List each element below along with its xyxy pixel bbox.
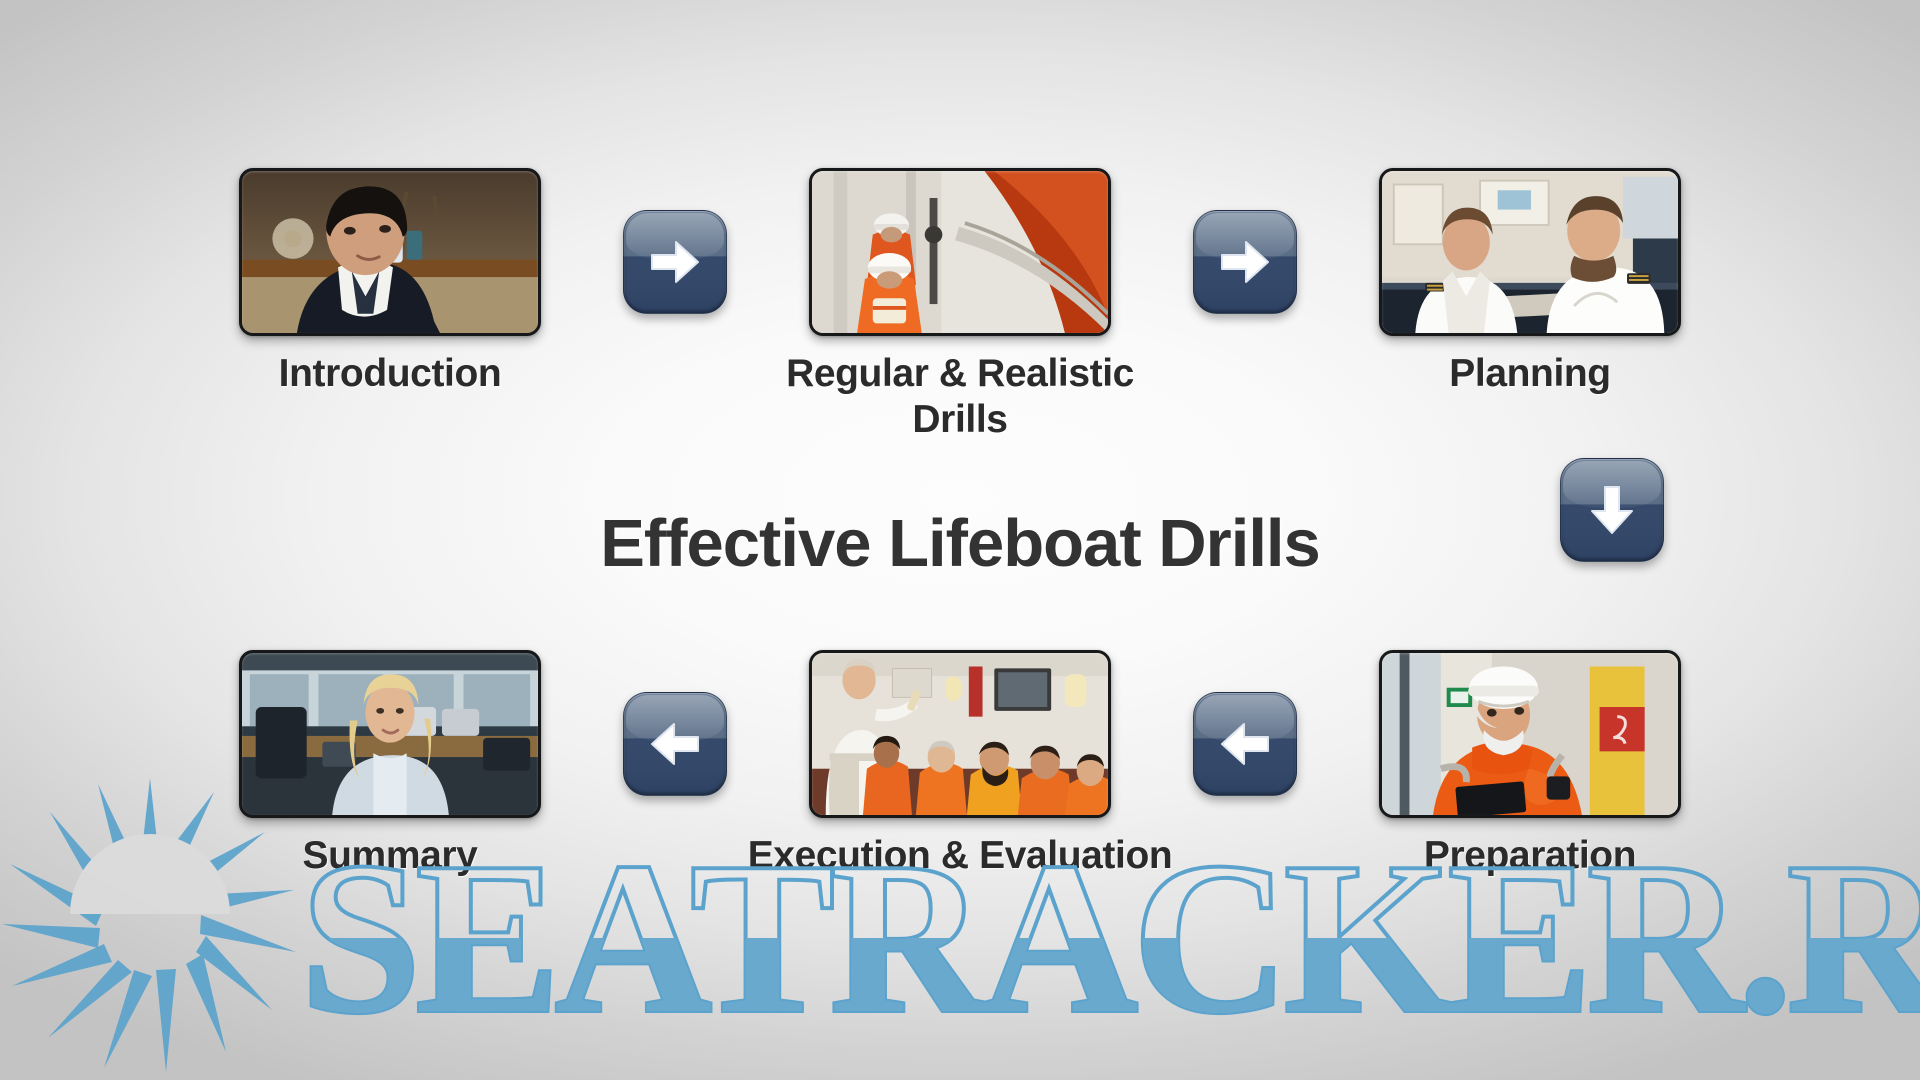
slide-canvas: Introduction xyxy=(0,0,1920,1080)
node-label-regular-realistic-drills: Regular & Realistic Drills xyxy=(786,351,1134,443)
node-label-summary: Summary xyxy=(303,833,478,879)
summary-thumbnail-art xyxy=(242,653,538,815)
page-title: Effective Lifeboat Drills xyxy=(600,506,1320,581)
arrow-down-icon[interactable] xyxy=(1560,458,1664,562)
node-planning[interactable]: Planning xyxy=(1315,168,1745,397)
summary-thumbnail[interactable] xyxy=(239,650,541,818)
node-label-line1: Regular & Realistic xyxy=(786,352,1134,395)
introduction-thumbnail[interactable] xyxy=(239,168,541,336)
node-label-preparation: Preparation xyxy=(1424,833,1636,879)
regular-realistic-drills-thumbnail[interactable] xyxy=(809,168,1111,336)
node-label-introduction: Introduction xyxy=(279,351,502,397)
node-regular-realistic-drills[interactable]: Regular & Realistic Drills xyxy=(745,168,1175,443)
node-label-line2: Drills xyxy=(912,398,1007,441)
planning-thumbnail[interactable] xyxy=(1379,168,1681,336)
bottom-row: Summary xyxy=(0,650,1920,879)
preparation-thumbnail[interactable] xyxy=(1379,650,1681,818)
node-label-planning: Planning xyxy=(1449,351,1610,397)
node-introduction[interactable]: Introduction xyxy=(175,168,605,397)
connector-5 xyxy=(605,650,745,796)
execution-evaluation-thumbnail-art xyxy=(812,653,1108,815)
connector-2 xyxy=(1175,168,1315,314)
planning-thumbnail-art xyxy=(1382,171,1678,333)
introduction-thumbnail-art xyxy=(242,171,538,333)
node-label-execution-evaluation: Execution & Evaluation xyxy=(748,833,1173,879)
execution-evaluation-thumbnail[interactable] xyxy=(809,650,1111,818)
arrow-right-icon[interactable] xyxy=(1193,210,1297,314)
top-row: Introduction xyxy=(0,168,1920,443)
node-summary[interactable]: Summary xyxy=(175,650,605,879)
arrow-left-icon[interactable] xyxy=(623,692,727,796)
node-execution-evaluation[interactable]: Execution & Evaluation xyxy=(745,650,1175,879)
connector-3 xyxy=(1560,458,1664,562)
connector-4 xyxy=(1175,650,1315,796)
regular-realistic-drills-thumbnail-art xyxy=(812,171,1108,333)
arrow-left-icon[interactable] xyxy=(1193,692,1297,796)
preparation-thumbnail-art xyxy=(1382,653,1678,815)
connector-1 xyxy=(605,168,745,314)
node-preparation[interactable]: Preparation xyxy=(1315,650,1745,879)
arrow-right-icon[interactable] xyxy=(623,210,727,314)
